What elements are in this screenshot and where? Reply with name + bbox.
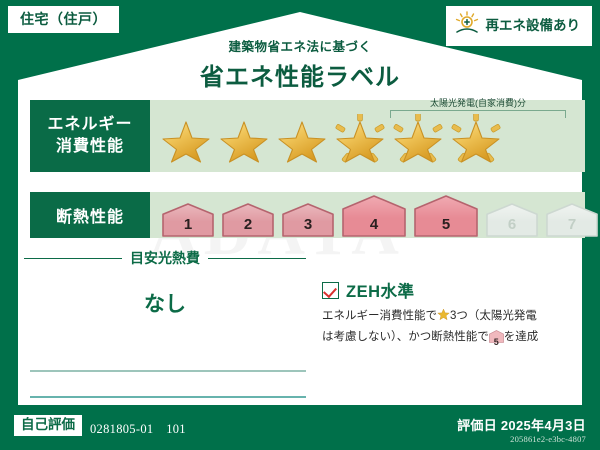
insulation-badge-number: 5: [412, 216, 480, 233]
zeh-block: ZEH水準 エネルギー消費性能で 3つ（太陽光発電 は考慮しない）、かつ断熱性能…: [322, 278, 570, 350]
self-evaluation-id: 0281805-01 101: [90, 418, 186, 437]
inline-level-badge: 5: [489, 330, 504, 350]
insulation-badge-5: 5: [412, 194, 480, 238]
energy-performance-row: エネルギー 消費性能 太陽光発電(自家消費)分: [30, 100, 585, 172]
page-title: 省エネ性能ラベル: [0, 57, 600, 92]
zeh-header: ZEH水準: [322, 278, 570, 302]
gold-star-icon: [160, 114, 212, 164]
evaluation-date: 評価日 2025年4月3日: [457, 415, 586, 434]
utility-cost-title: 目安光熱費: [130, 248, 200, 268]
energy-stars: [160, 114, 502, 164]
insulation-badge-number: 3: [280, 216, 336, 233]
gold-star-icon: [276, 114, 328, 164]
insulation-badge-panel: 1 2: [150, 192, 585, 238]
insulation-badges: 1 2: [160, 192, 600, 238]
insulation-badge-number: 2: [220, 216, 276, 233]
zeh-title: ZEH水準: [346, 278, 415, 302]
gold-star-icon: [218, 114, 270, 164]
insulation-performance-row: 断熱性能 1: [30, 192, 585, 238]
divider-upper: [30, 370, 306, 372]
insulation-badge-number: 6: [484, 216, 540, 233]
inline-star-icon: [437, 308, 450, 328]
self-evaluation-chip: 自己評価: [14, 415, 82, 436]
gold-star-sparkle-icon: [392, 114, 444, 164]
solar-annotation-label: 太陽光発電(自家消費)分: [378, 96, 578, 109]
divider-lower: [30, 396, 306, 398]
utility-cost-value: なし: [24, 288, 306, 318]
insulation-badge-7: 7: [544, 202, 600, 238]
renewable-energy-chip: 再エネ設備あり: [446, 6, 593, 46]
red-check-icon: [322, 282, 339, 299]
cost-rule-right: [208, 258, 306, 259]
inline-badge-number: 5: [489, 335, 504, 350]
insulation-badge-number: 4: [340, 216, 408, 233]
energy-star-panel: 太陽光発電(自家消費)分: [150, 100, 585, 172]
insulation-badge-6: 6: [484, 202, 540, 238]
footer: 自己評価 0281805-01 101 評価日 2025年4月3日 205861…: [0, 405, 600, 450]
insulation-badge-2: 2: [220, 202, 276, 238]
insulation-performance-label: 断熱性能: [30, 192, 150, 238]
insulation-badge-number: 7: [544, 216, 600, 233]
zeh-desc-part1: エネルギー消費性能で: [322, 310, 437, 322]
energy-performance-label: エネルギー 消費性能: [30, 100, 150, 172]
sun-renewable-icon: [454, 11, 480, 40]
insulation-badge-1: 1: [160, 202, 216, 238]
renewable-chip-label: 再エネ設備あり: [486, 19, 581, 33]
insulation-badge-3: 3: [280, 202, 336, 238]
zeh-description: エネルギー消費性能で 3つ（太陽光発電 は考慮しない）、かつ断熱性能で 5 を達…: [322, 307, 570, 350]
energy-label-line2: 消費性能: [56, 136, 124, 158]
cost-rule-left: [24, 258, 122, 259]
zeh-desc-stars: 3つ（太陽光発電: [450, 310, 537, 322]
dwelling-type-chip: 住宅（住戸）: [8, 6, 119, 33]
insulation-label-text: 断熱性能: [56, 203, 124, 227]
gold-star-sparkle-icon: [334, 114, 386, 164]
insulation-badge-4: 4: [340, 194, 408, 238]
gold-star-sparkle-icon: [450, 114, 502, 164]
energy-label-line1: エネルギー: [47, 114, 132, 136]
label-root: ADATA 住宅（住戸） 再エネ設備あり 建築物省エネ法に基づく 省エネ性能ラベ…: [0, 0, 600, 450]
utility-cost-header: 目安光熱費: [24, 248, 306, 268]
evaluation-hash: 205861e2-e3bc-4807: [510, 434, 586, 444]
insulation-badge-number: 1: [160, 216, 216, 233]
zeh-desc-part2: は考慮しない）、かつ断熱性能で: [322, 331, 489, 343]
zeh-desc-part3: を達成: [504, 331, 539, 343]
